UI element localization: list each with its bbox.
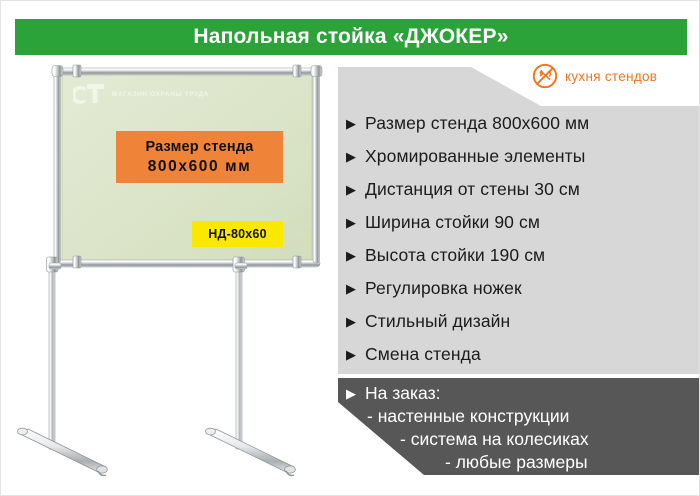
spec-item: ▶ Регулировка ножек: [346, 278, 696, 311]
triangle-bullet-icon: ▶: [346, 387, 356, 400]
stand-feet: [18, 428, 296, 475]
spec-item-label: Размер стенда 800х600 мм: [365, 113, 589, 134]
board-size-line-2: 800х600 мм: [148, 158, 252, 176]
spec-item-label: Стильный дизайн: [365, 311, 510, 332]
spec-item: ▶ Размер стенда 800х600 мм: [346, 113, 696, 146]
stand-legs: [47, 257, 248, 449]
board-size-callout: Размер стенда 800х600 мм: [116, 131, 283, 183]
board-code-label: НД-80х60: [192, 221, 283, 247]
spec-item: ▶ Ширина стойки 90 см: [346, 212, 696, 245]
brand-name: кухня стендов: [565, 69, 657, 84]
custom-order-subitem: - настенные конструкции: [367, 406, 569, 427]
triangle-bullet-icon: ▶: [346, 216, 356, 229]
custom-order-subitem: - любые размеры: [445, 452, 588, 473]
triangle-bullet-icon: ▶: [346, 348, 356, 361]
custom-order-heading-label: На заказ:: [365, 383, 440, 404]
poster-root: МАГАЗИН ОХРАНЫ ТРУДА Размер стенда 800х6…: [0, 0, 700, 496]
spec-item-label: Смена стенда: [365, 344, 481, 365]
spec-item-label: Хромированные элементы: [365, 146, 585, 167]
header-banner: Напольная стойка «ДЖОКЕР»: [15, 19, 687, 55]
no-utensils-icon: [532, 63, 558, 89]
spec-list: ▶ Размер стенда 800х600 мм ▶ Хромированн…: [346, 113, 696, 377]
board-size-line-1: Размер стенда: [145, 139, 253, 155]
spec-item: ▶ Высота стойки 190 см: [346, 245, 696, 278]
board-code-label-text: НД-80х60: [208, 227, 266, 241]
triangle-bullet-icon: ▶: [346, 183, 356, 196]
triangle-bullet-icon: ▶: [346, 282, 356, 295]
spec-item-label: Регулировка ножек: [365, 278, 522, 299]
page-title: Напольная стойка «ДЖОКЕР»: [15, 19, 687, 55]
spec-item-label: Ширина стойки 90 см: [365, 212, 540, 233]
triangle-bullet-icon: ▶: [346, 150, 356, 163]
spec-item-label: Высота стойки 190 см: [365, 245, 545, 266]
triangle-bullet-icon: ▶: [346, 315, 356, 328]
triangle-bullet-icon: ▶: [346, 249, 356, 262]
custom-order-heading: ▶ На заказ:: [346, 383, 440, 404]
spec-item: ▶ Хромированные элементы: [346, 146, 696, 179]
spec-item: ▶ Смена стенда: [346, 344, 696, 377]
spec-item: ▶ Дистанция от стены 30 см: [346, 179, 696, 212]
custom-order-subitem: - система на колесиках: [400, 429, 589, 450]
spec-item-label: Дистанция от стены 30 см: [365, 179, 580, 200]
brand-logo: кухня стендов: [532, 63, 657, 89]
triangle-bullet-icon: ▶: [346, 117, 356, 130]
spec-item: ▶ Стильный дизайн: [346, 311, 696, 344]
